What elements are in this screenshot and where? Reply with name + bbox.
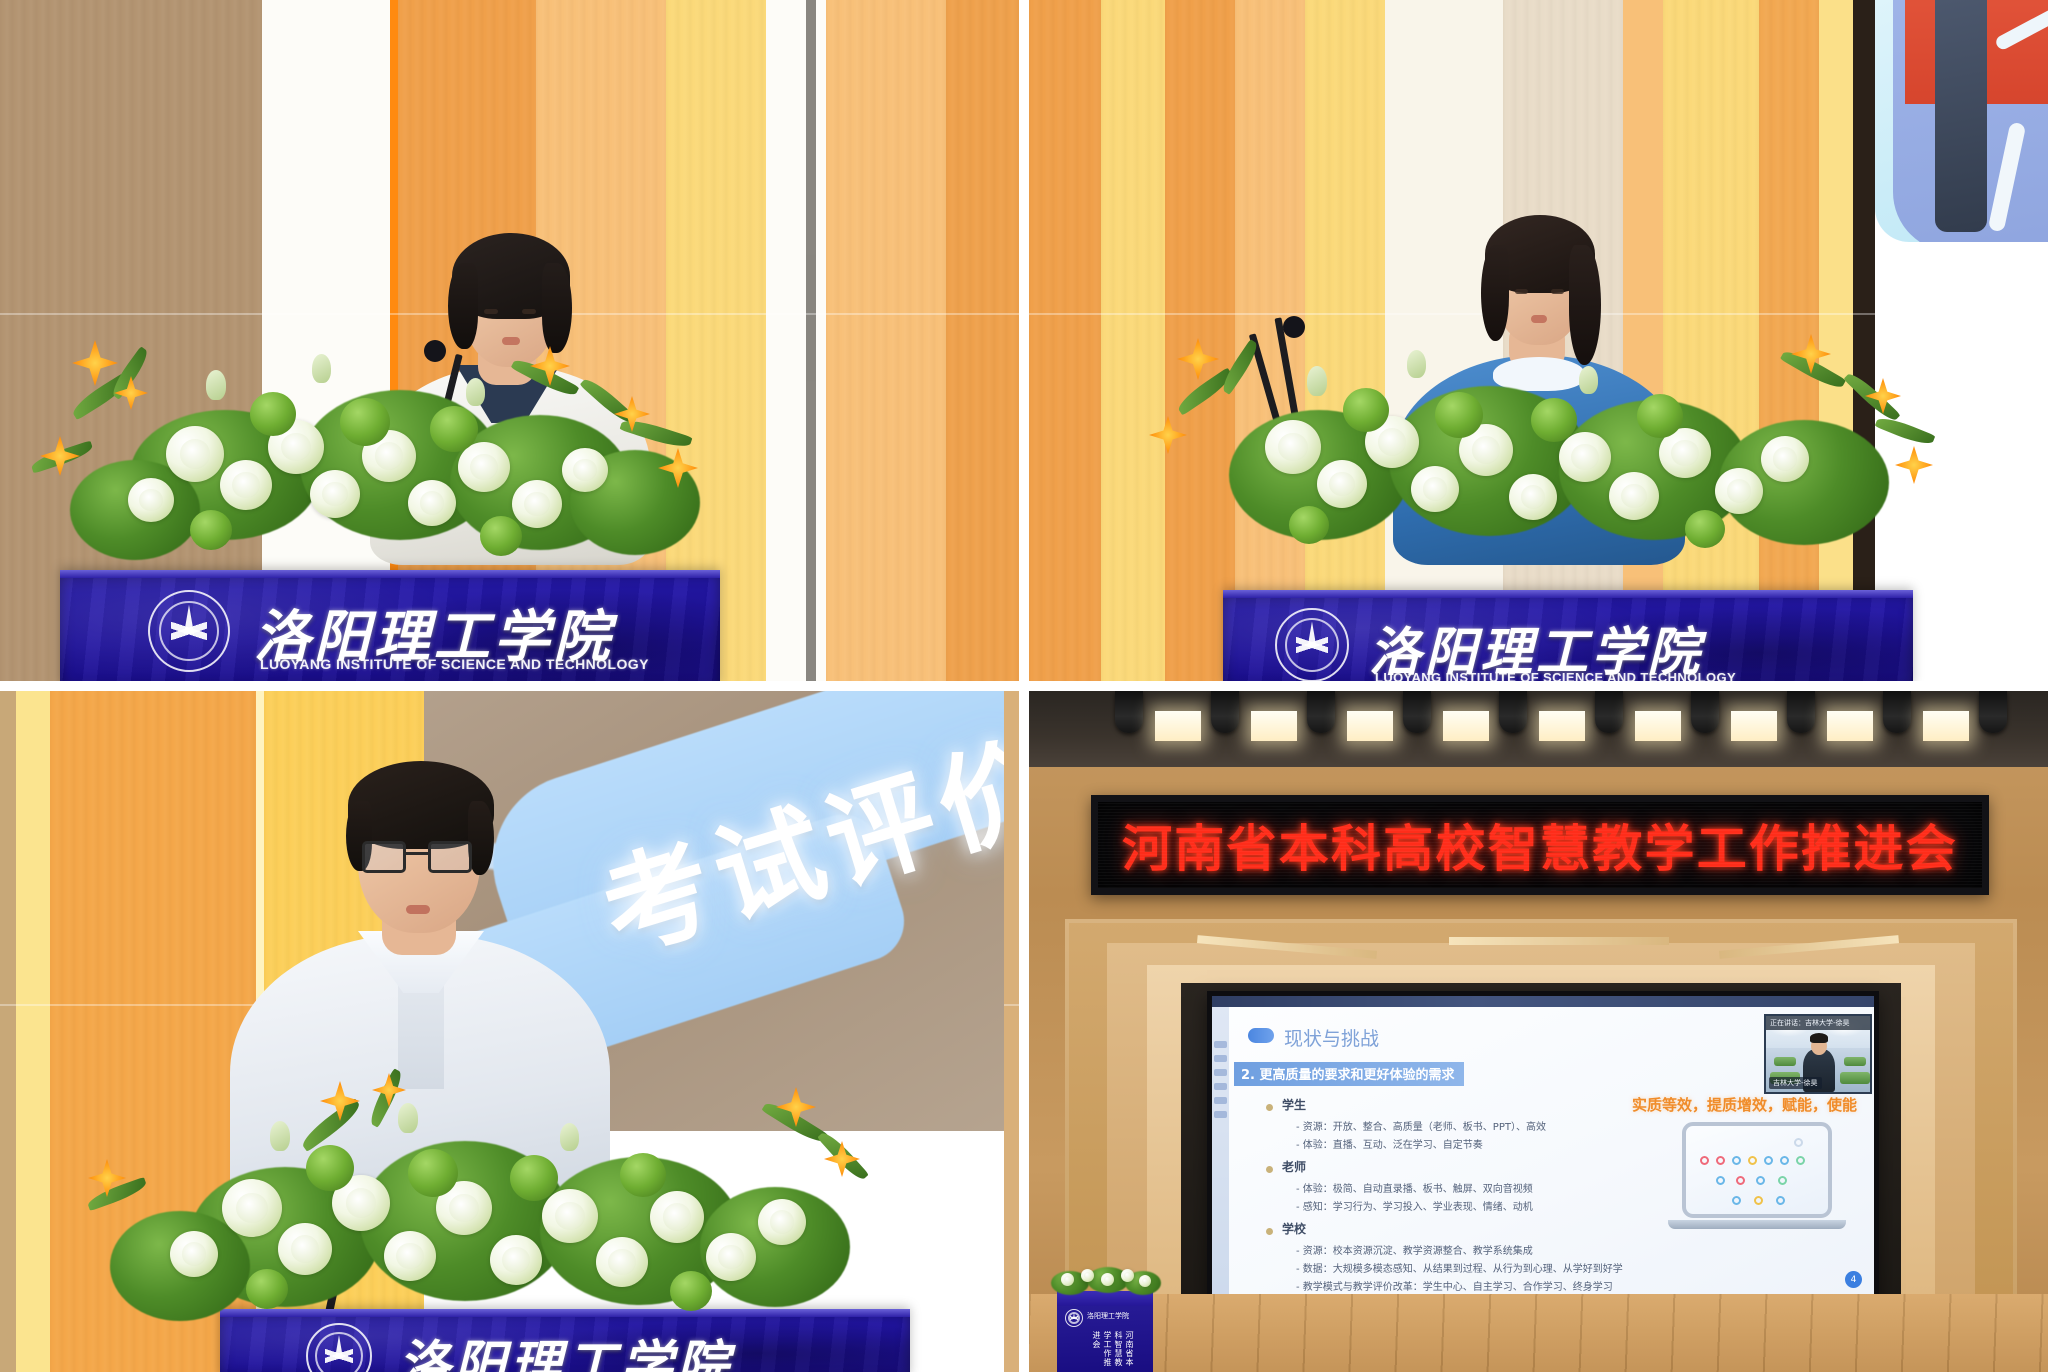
led-banner-text: 河南省本科高校智慧教学工作推进会 [1122, 809, 1958, 881]
node-dot [1700, 1156, 1709, 1165]
slide-group-heading: 老师 [1282, 1158, 1306, 1175]
photo-panel-top-right[interactable]: 洛阳理工学院 LUOYANG INSTITUTE OF SCIENCE AND … [1024, 0, 2048, 686]
photo-panel-top-left[interactable]: 洛阳理工学院 LUOYANG INSTITUTE OF SCIENCE AND … [0, 0, 1024, 686]
laptop-base [1668, 1220, 1846, 1229]
ceiling-spotlight [1979, 691, 2007, 733]
podium-banner-name-en: LUOYANG INSTITUTE OF SCIENCE AND TECHNOL… [260, 656, 649, 672]
video-desk [1774, 1057, 1796, 1066]
slide-page-number: 4 [1845, 1271, 1862, 1288]
photo-panel-bottom-right[interactable]: 河南省本科高校智慧教学工作推进会 现状与挑战 2. 更高质量的要求和更好体验的需… [1024, 686, 2048, 1372]
ceiling-spotlight [1499, 691, 1527, 733]
glasses-left-lens [362, 841, 406, 873]
node-dot [1756, 1176, 1765, 1185]
podium-banner-name-en: LUOYANG INSTITUTE OF SCIENCE AND TECHNOL… [1375, 670, 1736, 685]
node-dot [1716, 1176, 1725, 1185]
slide-group-heading: 学生 [1282, 1096, 1306, 1113]
node-dot [1736, 1176, 1745, 1185]
video-desk [1844, 1057, 1866, 1066]
ceiling-spotlight [1115, 691, 1143, 733]
node-dot [1716, 1156, 1725, 1165]
projection-screen-tr [1875, 0, 2048, 242]
node-dot [1780, 1156, 1789, 1165]
ceiling-light-panel [1251, 711, 1297, 741]
slide-group-line: - 体验：极简、自动直录播、板书、触屏、双向音视频 [1296, 1180, 1533, 1195]
slide-canvas: 现状与挑战 2. 更高质量的要求和更好体验的需求 实质等效，提质增效，赋能，使能… [1212, 996, 1874, 1320]
mini-podium-institute-name: 洛阳理工学院 [1087, 1311, 1129, 1321]
stage-side-sign-text: 河南省本科智慧教学工作推进会 [1091, 1331, 1135, 1372]
slide-title: 现状与挑战 [1284, 1024, 1379, 1051]
node-dot [1732, 1196, 1741, 1205]
led-conference-banner: 河南省本科高校智慧教学工作推进会 [1091, 795, 1989, 895]
ceiling-spotlight [1307, 691, 1335, 733]
node-dot [1754, 1196, 1763, 1205]
ceiling-light-panel [1347, 711, 1393, 741]
slide-group-heading: 学校 [1282, 1220, 1306, 1237]
slide-slogan: 实质等效，提质增效，赋能，使能 [1632, 1094, 1857, 1115]
glasses-right-lens [428, 841, 472, 873]
node-dot [1796, 1156, 1805, 1165]
ceiling-spotlight [1787, 691, 1815, 733]
slide-group-line: - 体验：直播、互动、泛在学习、自定节奏 [1296, 1136, 1483, 1151]
photo-panel-bottom-left[interactable]: 考试评价 洛阳理工学院 [0, 686, 1024, 1372]
speaker-eye-left [484, 309, 498, 314]
ceiling-light-panel [1827, 711, 1873, 741]
slide-section-heading: 2. 更高质量的要求和更好体验的需求 [1234, 1062, 1464, 1086]
slide-group-line: - 资源：校本资源沉淀、教学资源整合、教学系统集成 [1296, 1242, 1533, 1257]
node-dot [1794, 1138, 1803, 1147]
speaker-eye-right [522, 309, 536, 314]
ceiling-light-panel [1635, 711, 1681, 741]
ceiling-spotlight [1211, 691, 1239, 733]
ceiling-light-panel [1443, 711, 1489, 741]
institute-logo-icon [1065, 1309, 1083, 1327]
slide-topbar [1212, 996, 1874, 1007]
flower-arrangement-tr [1139, 320, 1929, 600]
ceiling-spotlight [1883, 691, 1911, 733]
institute-logo-icon [148, 590, 230, 672]
speaker-eye-right [1551, 289, 1564, 294]
flower-arrangement-tl [10, 330, 710, 600]
slide-left-rail [1212, 1007, 1229, 1320]
podium-banner-tr: 洛阳理工学院 LUOYANG INSTITUTE OF SCIENCE AND … [1223, 590, 1913, 686]
flower-arrangement-br [1047, 1263, 1165, 1299]
photo-collage: 洛阳理工学院 LUOYANG INSTITUTE OF SCIENCE AND … [0, 0, 2048, 1372]
node-dot [1776, 1196, 1785, 1205]
slide-group-line: - 感知：学习行为、学习投入、学业表现、情绪、动机 [1296, 1198, 1533, 1213]
flower-arrangement-bl [70, 1071, 870, 1361]
ceiling-light-panel [1539, 711, 1585, 741]
ceiling-spotlight [1691, 691, 1719, 733]
speaker-mouth [406, 905, 430, 914]
ceiling-light-panel [1731, 711, 1777, 741]
node-dot [1778, 1176, 1787, 1185]
slide-group-line: - 资源：开放、整合、高质量（老师、板书、PPT）、高效 [1296, 1118, 1546, 1133]
stage-ceiling-strip [1449, 937, 1669, 945]
node-dot [1748, 1156, 1757, 1165]
video-label-bottom: 吉林大学-徐昊 [1769, 1077, 1822, 1089]
glasses-bridge [406, 852, 428, 855]
ceiling-light-panel [1155, 711, 1201, 741]
stage-floor [1029, 1294, 2048, 1372]
node-dot [1764, 1156, 1773, 1165]
slide-title-pill [1248, 1028, 1274, 1043]
ceiling-spotlight [1595, 691, 1623, 733]
slide-group-line: - 教学模式与教学评价改革：学生中心、自主学习、合作学习、终身学习 [1296, 1278, 1613, 1293]
ceiling-spotlight [1403, 691, 1431, 733]
speaker-eye-left [1515, 289, 1528, 294]
presentation-display[interactable]: 现状与挑战 2. 更高质量的要求和更好体验的需求 实质等效，提质增效，赋能，使能… [1207, 991, 1879, 1345]
laptop-illustration [1682, 1122, 1832, 1218]
stage-podium-small: 洛阳理工学院 河南省本科智慧教学工作推进会 [1057, 1291, 1153, 1372]
ceiling-light-panel [1923, 711, 1969, 741]
video-label-top: 正在讲话：吉林大学-徐昊 [1766, 1016, 1870, 1030]
speaker-video-thumbnail[interactable]: 正在讲话：吉林大学-徐昊 吉林大学-徐昊 [1764, 1014, 1872, 1094]
video-desk [1840, 1072, 1870, 1084]
institute-logo-icon [1275, 608, 1349, 682]
slide-group-line: - 数据：大规模多模态感知、从结果到过程、从行为到心理、从学好到好学 [1296, 1260, 1623, 1275]
node-dot [1732, 1156, 1741, 1165]
